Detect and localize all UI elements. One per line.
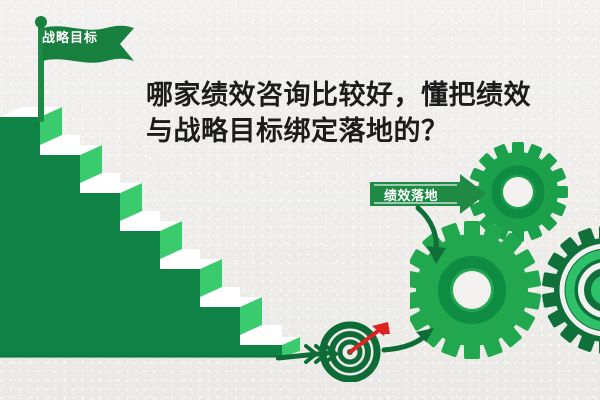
bullseye-and-path xyxy=(276,320,486,382)
curved-arrow-icon xyxy=(404,204,464,272)
poster-canvas: 战略目标 哪家绩效咨询比较好，懂把绩效 与战略目标绑定落地的？ xyxy=(0,0,600,400)
gear-right-icon xyxy=(542,226,600,354)
banner-label: 绩效落地 xyxy=(384,185,438,204)
curved-arrow-head xyxy=(427,246,446,264)
curved-arrow-stroke xyxy=(418,208,436,252)
staircase-base-line xyxy=(0,355,300,358)
flag-label: 战略目标 xyxy=(42,27,98,46)
title-line-1: 哪家绩效咨询比较好，懂把绩效 xyxy=(146,78,592,114)
